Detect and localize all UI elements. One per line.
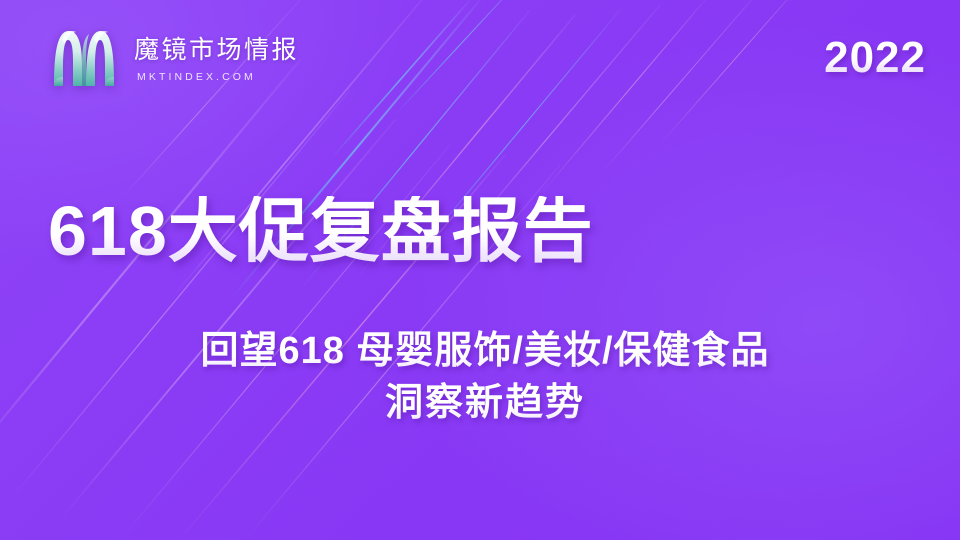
page-title: 618大促复盘报告 <box>48 196 594 266</box>
report-cover-slide: 魔镜市场情报 MKTINDEX.COM 2022 618大促复盘报告 回望618… <box>0 0 960 540</box>
subtitle-line-1: 回望618 母婴服饰/美妆/保健食品 <box>10 326 960 378</box>
brand-text: 魔镜市场情报 MKTINDEX.COM <box>134 32 299 83</box>
mktindex-m-logo-icon <box>48 24 120 90</box>
year-label: 2022 <box>824 36 926 80</box>
brand-logo-lockup: 魔镜市场情报 MKTINDEX.COM <box>48 24 299 90</box>
brand-domain: MKTINDEX.COM <box>134 71 299 83</box>
brand-name-cn: 魔镜市场情报 <box>134 36 299 64</box>
subtitle-line-2: 洞察新趋势 <box>10 378 960 430</box>
subtitle-block: 回望618 母婴服饰/美妆/保健食品 洞察新趋势 <box>0 326 960 429</box>
